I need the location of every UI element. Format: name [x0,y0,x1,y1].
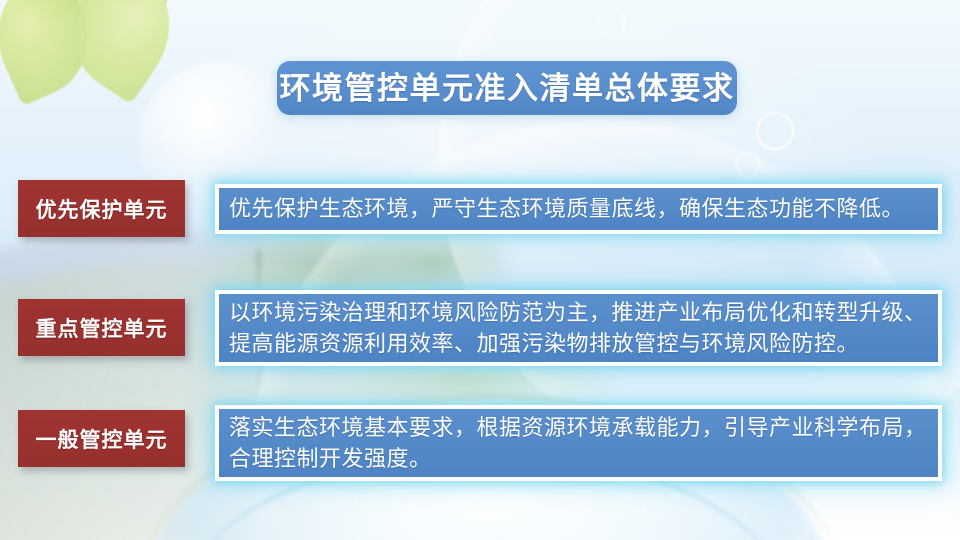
bubble-small-icon [756,112,794,150]
slide-title-text: 环境管控单元准入清单总体要求 [280,73,735,104]
slide-canvas: 环境管控单元准入清单总体要求 优先保护单元 优先保护生态环境，严守生态环境质量底… [0,0,960,540]
background-ribbon-grey [0,232,660,540]
category-label-general-control: 一般管控单元 [18,410,185,467]
content-box-general-control: 落实生态环境基本要求，根据资源环境承载能力，引导产业科学布局，合理控制开发强度。 [215,405,942,481]
leaf-cluster-icon [0,0,210,154]
bubble-small-icon [735,152,761,178]
content-box-priority-protection: 优先保护生态环境，严守生态环境质量底线，确保生态功能不降低。 [215,184,942,234]
slide-title-banner: 环境管控单元准入清单总体要求 [277,61,737,115]
bubble-small-icon [596,8,626,38]
leaf-icon [72,0,165,7]
leaf-icon [46,0,195,105]
category-label-key-control: 重点管控单元 [18,299,185,356]
content-text: 以环境污染治理和环境风险防范为主，推进产业布局优化和转型升级、提高能源资源利用效… [219,291,938,365]
category-label-text: 重点管控单元 [36,313,168,343]
category-label-text: 优先保护单元 [36,194,168,224]
leaf-icon [0,0,109,106]
category-label-priority-protection: 优先保护单元 [18,180,185,237]
leaf-stem-icon [44,0,179,20]
leaf-icon [0,0,107,27]
content-text: 落实生态环境基本要求，根据资源环境承载能力，引导产业科学布局，合理控制开发强度。 [219,406,938,480]
content-box-key-control: 以环境污染治理和环境风险防范为主，推进产业布局优化和转型升级、提高能源资源利用效… [215,290,942,366]
category-label-text: 一般管控单元 [36,424,168,454]
content-text: 优先保护生态环境，严守生态环境质量底线，确保生态功能不降低。 [219,187,912,230]
